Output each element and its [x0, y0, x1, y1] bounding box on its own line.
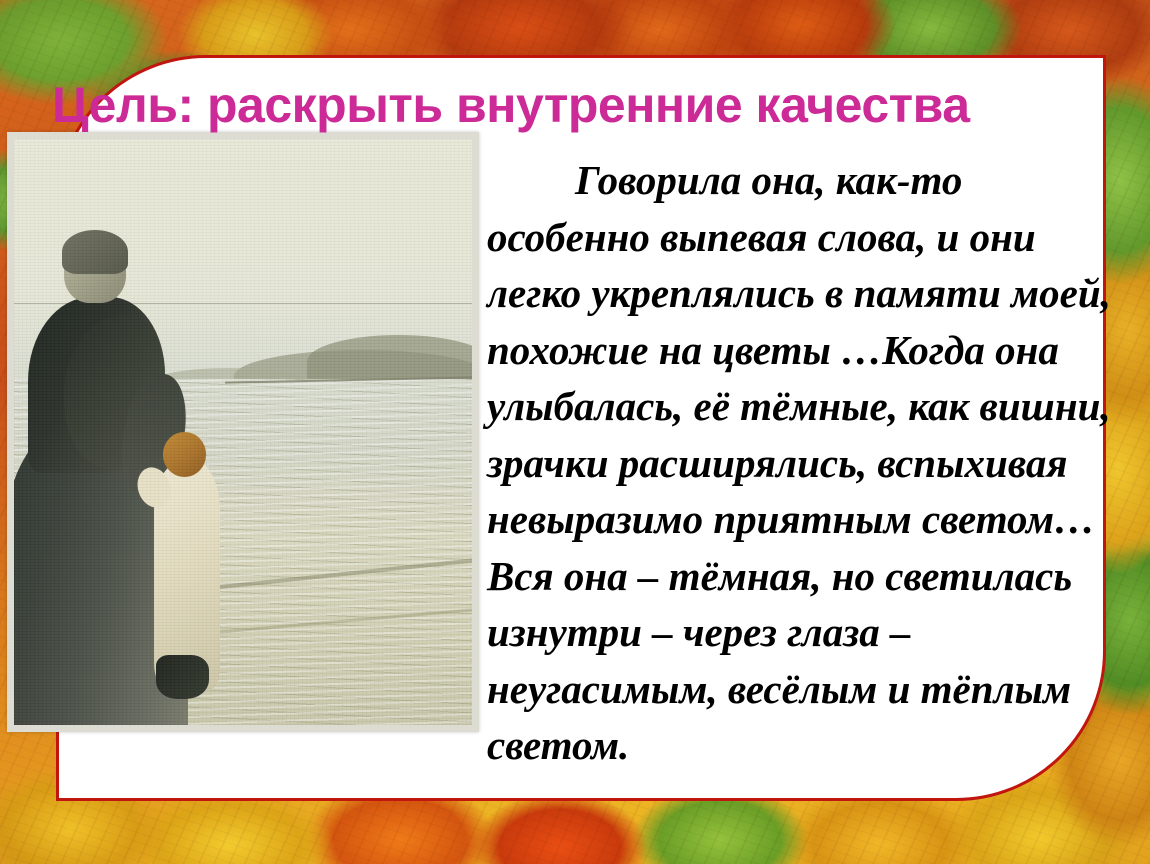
slide-title: Цель: раскрыть внутренние качества [52, 78, 1122, 132]
illustration-frame [7, 132, 479, 732]
painting-canvas [14, 139, 472, 725]
painting-grain-texture [14, 139, 472, 725]
quote-text: Говорила она, как-то особенно выпевая сл… [487, 152, 1127, 774]
